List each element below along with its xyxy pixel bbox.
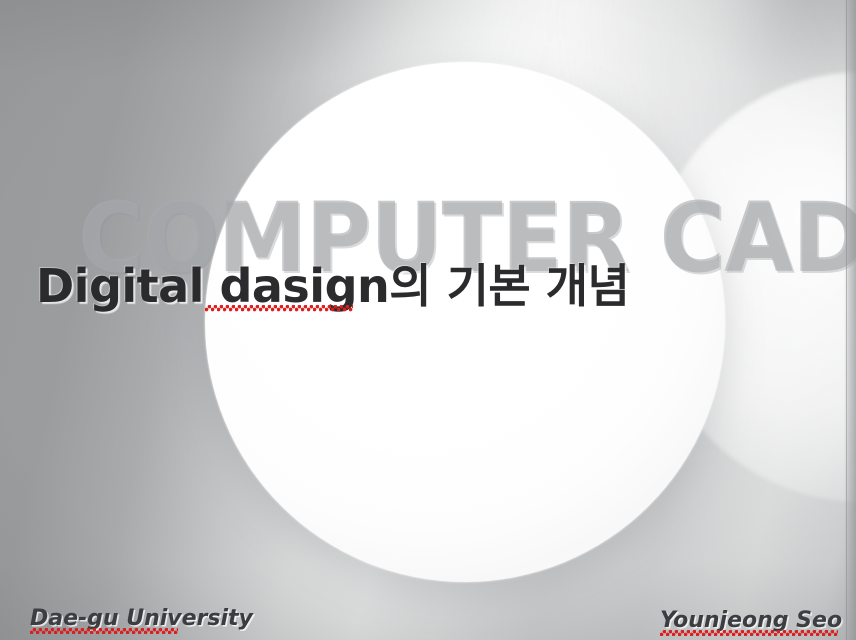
- right-edge-line: [846, 0, 847, 640]
- footer-university: Dae-gu University: [30, 606, 253, 632]
- slide-title: Digital dasign의 기본 개념: [36, 258, 629, 314]
- slide-title-text: Digital dasign의 기본 개념: [36, 259, 629, 313]
- footer-author: Younjeong Seo: [660, 608, 842, 634]
- background-sphere-main: [205, 62, 725, 582]
- presentation-slide: COMPUTER CAD Digital dasign의 기본 개념 Dae-g…: [0, 0, 856, 640]
